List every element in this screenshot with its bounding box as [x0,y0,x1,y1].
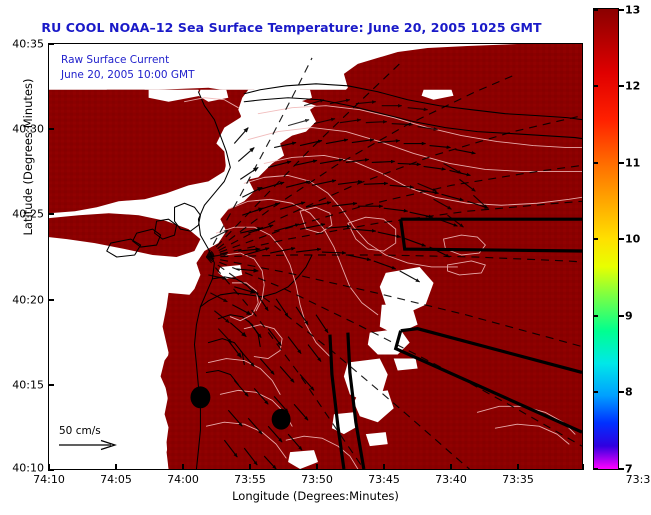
x-tick-label: 73:45 [368,473,400,486]
colorbar-tick [619,468,624,470]
colorbar-tick [593,315,598,317]
colorbar-tick [593,468,598,470]
x-tick-label: 74:10 [33,473,65,486]
y-tick-label: 40:20 [4,294,44,307]
colorbar-tick [593,9,598,11]
scale-bar-label: 50 cm/s [59,425,119,437]
x-tick-mark [316,464,318,470]
x-tick-mark [450,464,452,470]
x-tick-label: 73:35 [502,473,534,486]
y-tick-mark [48,213,54,215]
colorbar-tick-label: 7 [625,463,633,476]
colorbar-tick [619,391,624,393]
colorbar-tick-label: 8 [625,386,633,399]
figure-root: RU COOL NOAA–12 Sea Surface Temperature:… [0,0,651,515]
colorbar-tick [593,238,598,240]
x-tick-label: 74:05 [100,473,132,486]
x-tick-label: 73:40 [435,473,467,486]
colorbar-tick [619,315,624,317]
y-tick-mark [48,43,54,45]
y-axis-label: Latitude (Degrees:Minutes) [21,37,35,277]
colorbar-tick-label: 12 [625,80,640,93]
colorbar-tick [619,85,624,87]
x-tick-mark [582,464,584,470]
x-tick-mark [115,464,117,470]
x-tick-mark [182,464,184,470]
x-tick-label: 73:50 [301,473,333,486]
y-tick-label: 40:15 [4,379,44,392]
colorbar-tick-label: 11 [625,157,640,170]
x-axis-label: Longitude (Degrees:Minutes) [48,489,583,503]
colorbar-tick-label: 10 [625,233,640,246]
x-tick-mark [517,464,519,470]
colorbar-tick [619,162,624,164]
colorbar-tick [619,238,624,240]
y-tick-mark [48,299,54,301]
y-tick-mark [48,384,54,386]
x-tick-mark [383,464,385,470]
colorbar-tick [593,85,598,87]
scale-bar: 50 cm/s [57,425,119,451]
scale-bar-arrow-icon [57,439,119,451]
x-tick-label: 74:00 [167,473,199,486]
y-tick-mark [48,128,54,130]
colorbar-tick [593,162,598,164]
x-tick-mark [48,464,50,470]
colorbar-tick [619,9,624,11]
colorbar-tick-label: 13 [625,4,640,17]
x-tick-label: 73:55 [234,473,266,486]
colorbar-tick-label: 9 [625,310,633,323]
colorbar-tick [593,391,598,393]
x-tick-mark [249,464,251,470]
